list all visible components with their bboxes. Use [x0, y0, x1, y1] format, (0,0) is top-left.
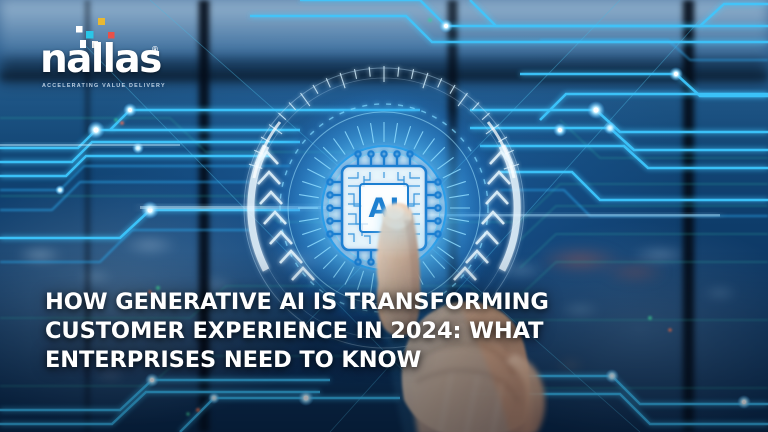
headline-line-1: HOW GENERATIVE AI IS TRANSFORMING — [45, 288, 645, 317]
nallas-logo[interactable]: nallas ® ACCELERATING VALUE DELIVERY — [40, 14, 170, 86]
headline-line-2: CUSTOMER EXPERIENCE IN 2024: WHAT — [45, 317, 645, 346]
logo-registered-mark: ® — [152, 45, 158, 54]
logo-wordmark: nallas — [40, 40, 161, 79]
headline-line-3: ENTERPRISES NEED TO KNOW — [45, 346, 645, 375]
banner-headline: HOW GENERATIVE AI IS TRANSFORMING CUSTOM… — [45, 288, 645, 375]
hero-banner: AI — [0, 0, 768, 432]
logo-tagline: ACCELERATING VALUE DELIVERY — [42, 83, 166, 89]
